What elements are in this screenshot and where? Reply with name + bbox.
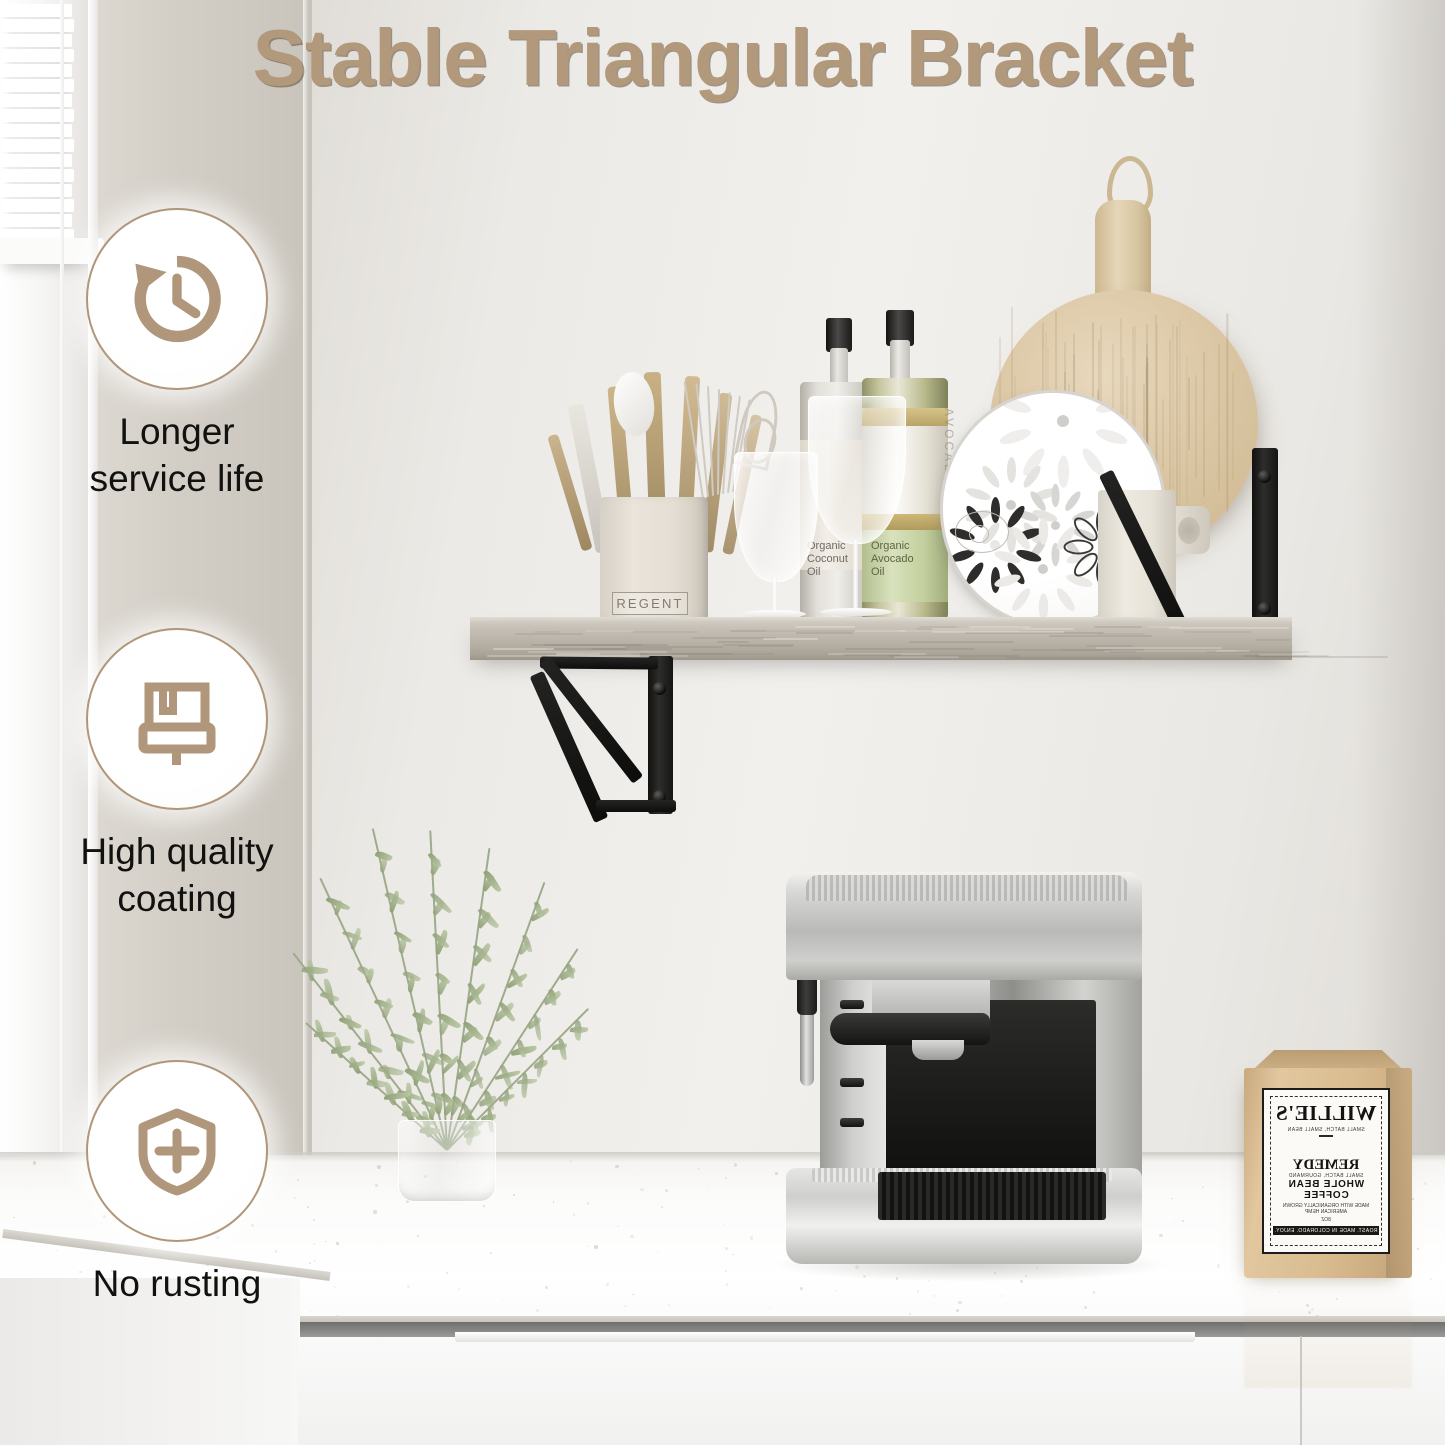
shelf-grain-line: [919, 626, 957, 628]
feature-longer-service-life: Longer service life: [42, 208, 312, 502]
feature-label-3: No rusting: [42, 1260, 312, 1307]
counter-speck: [640, 1188, 644, 1192]
counter-speck: [1171, 1198, 1172, 1199]
daisy-petal: [1063, 489, 1083, 513]
counter-speck: [483, 1205, 485, 1207]
avocado-label-line2: Avocado: [871, 553, 949, 566]
coffee-bag-reflection: [1244, 1278, 1412, 1388]
coffee-line-1: WHOLE BEAN: [1288, 1179, 1364, 1190]
counter-speck: [573, 1214, 575, 1216]
shelf-grain-line: [1109, 651, 1136, 653]
daisy-center: [1038, 564, 1049, 575]
shelf-grain-line: [763, 638, 818, 640]
shelf-grain-line: [1006, 657, 1143, 659]
shelf-grain-line: [534, 631, 560, 633]
counter-speck: [1430, 1278, 1432, 1280]
shelf-grain-line: [631, 653, 774, 655]
counter-speck: [617, 1225, 619, 1227]
shelf-grain-line: [591, 648, 672, 650]
glass-vase: [398, 1120, 496, 1202]
product-marketing-image: REGENT Organic Coconut Oil Organic Avoca…: [0, 0, 1445, 1445]
counter-speck: [594, 1245, 598, 1249]
counter-speck: [1424, 1182, 1427, 1185]
counter-speck: [668, 1304, 670, 1306]
counter-speck: [835, 1290, 836, 1291]
avocado-label-line3: Oil: [871, 566, 949, 579]
counter-speck: [909, 1313, 911, 1315]
shelf-grain-line: [795, 626, 855, 628]
shelf-grain-line: [845, 648, 975, 650]
espresso-knob-1[interactable]: [840, 1000, 864, 1009]
counter-speck: [917, 1290, 919, 1292]
coffee-brand: WILLIE'S: [1276, 1101, 1377, 1126]
counter-speck: [1417, 1248, 1419, 1250]
board-grain-line: [1172, 324, 1174, 512]
counter-speck: [725, 1177, 727, 1179]
counter-speck: [336, 1242, 339, 1245]
feature-label-1-line1: Longer: [42, 408, 312, 455]
feature-no-rusting: No rusting: [42, 1060, 312, 1307]
counter-speck: [417, 1235, 419, 1237]
daisy-petal: [1054, 586, 1078, 614]
shelf-grain-line: [1256, 639, 1290, 641]
counter-speck: [313, 1243, 315, 1245]
paint-brush-icon: [127, 669, 227, 769]
espresso-spout: [912, 1040, 964, 1060]
daisy-outline-petal: [1064, 540, 1094, 555]
daisy-petal: [1051, 484, 1059, 507]
shelf-grain-line: [1049, 635, 1152, 637]
shelf-grain-line: [1097, 633, 1145, 635]
espresso-drip-tray: [878, 1172, 1106, 1220]
shelf-grain-line: [796, 632, 853, 634]
shield-plus-icon: [127, 1101, 227, 1201]
page-title: Stable Triangular Bracket: [0, 12, 1445, 104]
daisy-petal: [1007, 457, 1016, 483]
shelf-grain-line: [1012, 649, 1144, 651]
counter-speck: [775, 1172, 778, 1175]
counter-speck: [1001, 1295, 1002, 1296]
shelf-grain-line: [1185, 631, 1251, 633]
shelf-grain-line: [1259, 654, 1309, 656]
daisy-petal: [1039, 517, 1048, 544]
counter-speck: [377, 1165, 380, 1168]
espresso-knob-3[interactable]: [840, 1118, 864, 1127]
counter-speck: [1412, 1198, 1413, 1199]
board-grain-line: [1218, 344, 1220, 490]
shelf-grain-line: [909, 641, 1014, 643]
daisy-petal: [1058, 455, 1069, 488]
shelf-grain-line: [738, 645, 793, 647]
feature-label-2-line2: coating: [42, 875, 312, 922]
shelf-grain-line: [631, 631, 698, 633]
cabinet-grip-highlight: [455, 1332, 1195, 1342]
coconut-oil-cap: [826, 318, 852, 352]
daisy-petal: [980, 464, 1003, 490]
shelf-grain-line: [844, 654, 901, 656]
shelf-grain-line: [717, 641, 749, 643]
feature-label-2: High quality coating: [42, 828, 312, 922]
feature-label-1: Longer service life: [42, 408, 312, 502]
badge-circle-2: [86, 628, 268, 810]
daisy-petal: [1094, 426, 1128, 447]
daisy-petal: [1009, 586, 1033, 614]
coffee-line-2: COFFEE: [1303, 1190, 1348, 1201]
daisy-petal: [964, 560, 987, 586]
avocado-label-line1: Organic: [871, 540, 949, 553]
coffee-product-name: REMEDY: [1293, 1158, 1360, 1172]
espresso-knob-2[interactable]: [840, 1078, 864, 1087]
coffee-banner: ROAST. MADE IN COLORADO. ENJOY.: [1273, 1226, 1379, 1235]
feature-label-1-line2: service life: [42, 455, 312, 502]
counter-speck: [697, 1168, 699, 1170]
daisy-center: [1006, 500, 1016, 510]
history-clock-icon: [125, 247, 229, 351]
mug-handle-hole: [1178, 517, 1200, 544]
counter-speck: [708, 1187, 709, 1188]
board-grain-line: [1227, 314, 1229, 510]
coffee-brand-sub: SMALL BATCH, SMALL BEAN: [1287, 1127, 1364, 1133]
counter-speck: [559, 1218, 560, 1219]
daisy-petal: [998, 395, 1032, 416]
coffee-bag-label: WILLIE'S SMALL BATCH, SMALL BEAN REMEDY …: [1262, 1088, 1390, 1254]
counter-speck: [750, 1236, 753, 1239]
counter-speck: [958, 1301, 961, 1304]
shelf-grain-line: [585, 630, 633, 632]
feature-label-3-line1: No rusting: [42, 1260, 312, 1307]
counter-speck: [373, 1210, 377, 1214]
badge-circle-3: [86, 1060, 268, 1242]
shelf-grain-line: [1169, 627, 1289, 629]
feature-high-quality-coating: High quality coating: [42, 628, 312, 922]
board-grain-line: [1179, 319, 1181, 511]
coffee-weight: 8OZ: [1321, 1217, 1331, 1223]
floating-wood-shelf: [470, 622, 1292, 660]
counter-speck: [545, 1286, 548, 1289]
shelf-grain-line: [890, 655, 1019, 657]
espresso-portafilter[interactable]: [830, 1013, 990, 1045]
counter-speck: [1084, 1306, 1087, 1309]
board-grain-line: [1162, 399, 1164, 469]
daisy-center: [1051, 521, 1060, 530]
shelf-grain-line: [1086, 645, 1132, 647]
counter-speck: [490, 1252, 492, 1254]
counter-speck: [33, 1161, 36, 1164]
daisy-center: [1057, 415, 1070, 428]
counter-speck: [588, 1245, 590, 1247]
daisy-petal: [964, 486, 992, 503]
feature-label-2-line1: High quality: [42, 828, 312, 875]
counter-speck: [632, 1294, 633, 1295]
counter-speck: [732, 1254, 733, 1255]
board-grain-line: [1232, 372, 1234, 481]
daisy-petal: [998, 426, 1032, 447]
counter-speck: [553, 1201, 554, 1202]
coffee-glass-icon: [1319, 1135, 1333, 1155]
crock-brand-label: REGENT: [612, 592, 688, 615]
board-grain-line: [1195, 375, 1197, 479]
counter-speck: [597, 1269, 598, 1270]
shelf-grain-line: [1094, 626, 1142, 628]
espresso-cup-warmer-grid: [806, 875, 1128, 901]
board-grain-line: [1188, 377, 1190, 450]
counter-speck: [587, 1202, 589, 1204]
shelf-grain-line: [493, 648, 554, 650]
badge-circle-1: [86, 208, 268, 390]
counter-speck: [446, 1272, 447, 1273]
counter-speck: [1217, 1264, 1220, 1267]
counter-speck: [325, 1241, 327, 1243]
coffee-details: MADE WITH ORGANICALLY GROWN AMERICAN HEM…: [1273, 1203, 1379, 1215]
board-grain-line: [1203, 352, 1205, 498]
